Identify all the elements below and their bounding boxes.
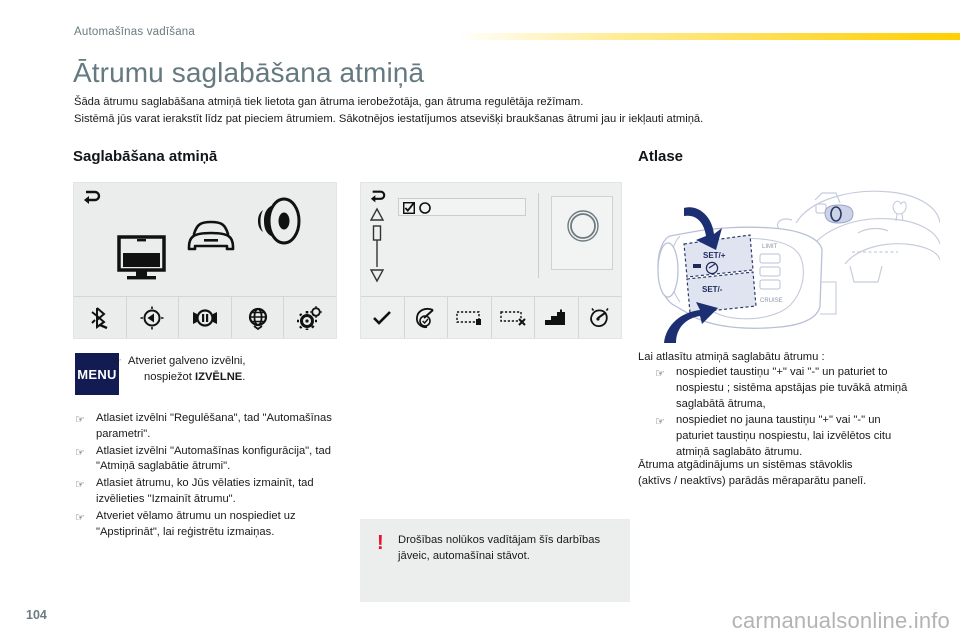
list-item-label: Atlasiet ātrumu, ko Jūs vēlaties izmainī… <box>96 477 314 505</box>
panel-divider <box>538 193 539 278</box>
infotainment-settings-screen <box>360 182 622 339</box>
menu-instruction-line-1: Atveriet galveno izvēlni, <box>128 355 246 367</box>
list-item-label: Atlasiet izvēlni "Regulēšana", tad "Auto… <box>96 412 332 440</box>
pointing-hand-icon: ☞ <box>75 511 87 527</box>
checkbox-checked-icon[interactable] <box>403 202 415 214</box>
radio-unchecked-icon[interactable] <box>419 202 431 214</box>
right-lead-text: Lai atlasītu atmiņā saglabātu ātrumu : <box>638 350 928 366</box>
toolbar-cell-bluetooth[interactable] <box>74 297 127 338</box>
screen-body <box>74 183 336 296</box>
screen-body <box>361 183 621 296</box>
right-tail-text: Ātruma atgādinājums un sistēmas stāvokli… <box>638 458 928 490</box>
left-steps-list: ☞Atlasiet izvēlni "Regulēšana", tad "Aut… <box>75 411 343 541</box>
right-steps-list: ☞nospiediet taustiņu "+" vai "-" un patu… <box>655 365 917 462</box>
cruise-dial-icon <box>587 306 613 330</box>
toolbar-cell-navigation[interactable] <box>127 297 180 338</box>
menu-instruction-line-2-suffix: . <box>242 371 245 383</box>
check-tick-icon <box>372 310 392 326</box>
factory-reset-icon <box>543 309 569 327</box>
stalk-label-plus: SET/+ <box>703 251 726 260</box>
scrollbar-icon[interactable] <box>369 207 385 283</box>
toolbar-cell-speed[interactable] <box>405 297 449 338</box>
screen-toolbar <box>74 296 336 338</box>
pointing-hand-icon: ☞ <box>112 355 124 371</box>
screen-toolbar <box>361 296 621 338</box>
toolbar-cell-media[interactable] <box>179 297 232 338</box>
add-field-icon <box>455 309 483 327</box>
speedometer-icon <box>413 306 439 330</box>
list-item-label: Atlasiet izvēlni "Automašīnas konfigurāc… <box>96 445 331 473</box>
section-heading-saglabasana: Saglabāšana atmiņā <box>73 148 217 165</box>
warning-text: Drošības nolūkos vadītājam šīs darbības … <box>398 533 616 565</box>
pointing-hand-icon: ☞ <box>75 413 87 429</box>
section-heading-atlase: Atlase <box>638 148 683 165</box>
intro-paragraph: Šāda ātrumu saglabāšana atmiņā tiek liet… <box>74 94 904 127</box>
toolbar-cell-factory-reset[interactable] <box>535 297 579 338</box>
list-item-label: nospiediet taustiņu "+" vai "-" un patur… <box>676 366 907 410</box>
pointing-hand-icon: ☞ <box>655 367 667 383</box>
warning-exclamation-icon: ! <box>377 533 384 553</box>
car-front-icon <box>185 219 237 252</box>
safety-warning-box: ! Drošības nolūkos vadītājam šīs darbība… <box>360 519 630 602</box>
pointing-hand-icon: ☞ <box>75 478 87 494</box>
back-arrow-icon <box>82 189 102 207</box>
pointing-hand-icon: ☞ <box>75 446 87 462</box>
list-item: ☞nospiediet no jauna taustiņu "+" vai "-… <box>655 413 917 460</box>
breadcrumb: Automašīnas vadīšana <box>74 26 195 38</box>
toolbar-cell-add[interactable] <box>448 297 492 338</box>
page-number: 104 <box>26 608 47 622</box>
manual-page: Automašīnas vadīšana Ātrumu saglabāšana … <box>0 0 960 640</box>
toolbar-cell-settings[interactable] <box>284 297 336 338</box>
infotainment-home-screen <box>73 182 337 339</box>
settings-gears-icon <box>297 306 323 330</box>
bluetooth-icon <box>89 306 111 330</box>
navigation-icon <box>139 305 165 331</box>
list-item: ☞Atlasiet izvēlni "Regulēšana", tad "Aut… <box>75 411 343 443</box>
media-play-icon <box>191 307 219 329</box>
list-item: ☞Atveriet vēlamo ātrumu un nospiediet uz… <box>75 509 343 541</box>
intro-line-1: Šāda ātrumu saglabāšana atmiņā tiek liet… <box>74 94 904 111</box>
list-item: ☞Atlasiet izvēlni "Automašīnas konfigurā… <box>75 444 343 476</box>
monitor-icon <box>117 235 166 282</box>
stalk-label-cruise: CRUISE <box>760 298 783 304</box>
list-item-label: Atveriet vēlamo ātrumu un nospiediet uz … <box>96 510 296 538</box>
toolbar-cell-confirm[interactable] <box>361 297 405 338</box>
stalk-label-limit: LIMIT <box>762 244 778 250</box>
delete-field-icon <box>499 309 527 327</box>
steering-wheel-stalk-controls-illustration: SET/+ SET/- LIMIT CRUISE <box>640 178 940 343</box>
dial-ring-icon <box>566 209 600 243</box>
speaker-icon <box>256 197 303 245</box>
back-arrow-icon <box>369 189 387 205</box>
accent-bar <box>455 33 960 40</box>
menu-instruction-line-2-prefix: nospiežot <box>144 371 195 383</box>
settings-row[interactable] <box>398 198 526 216</box>
page-title: Ātrumu saglabāšana atmiņā <box>73 57 424 89</box>
stalk-label-minus: SET/- <box>702 285 723 294</box>
preview-box <box>551 196 613 270</box>
internet-globe-icon <box>246 306 270 330</box>
list-item: ☞nospiediet taustiņu "+" vai "-" un patu… <box>655 365 917 412</box>
menu-instruction-bold: IZVĒLNE <box>195 371 242 383</box>
right-tail-line-2: (aktīvs / neaktīvs) parādās mēraparātu p… <box>638 474 928 490</box>
menu-instruction: ☞ Atveriet galveno izvēlni, nospiežot IZ… <box>128 354 338 385</box>
list-item-label: nospiediet no jauna taustiņu "+" vai "-"… <box>676 414 891 458</box>
toolbar-cell-internet[interactable] <box>232 297 285 338</box>
list-item: ☞Atlasiet ātrumu, ko Jūs vēlaties izmain… <box>75 476 343 508</box>
right-tail-line-1: Ātruma atgādinājums un sistēmas stāvokli… <box>638 458 928 474</box>
toolbar-cell-cruise-dial[interactable] <box>579 297 622 338</box>
toolbar-cell-delete[interactable] <box>492 297 536 338</box>
watermark: carmanualsonline.info <box>732 608 950 634</box>
pointing-hand-icon: ☞ <box>655 415 667 431</box>
intro-line-2: Sistēmā jūs varat ierakstīt līdz pat pie… <box>74 111 904 128</box>
